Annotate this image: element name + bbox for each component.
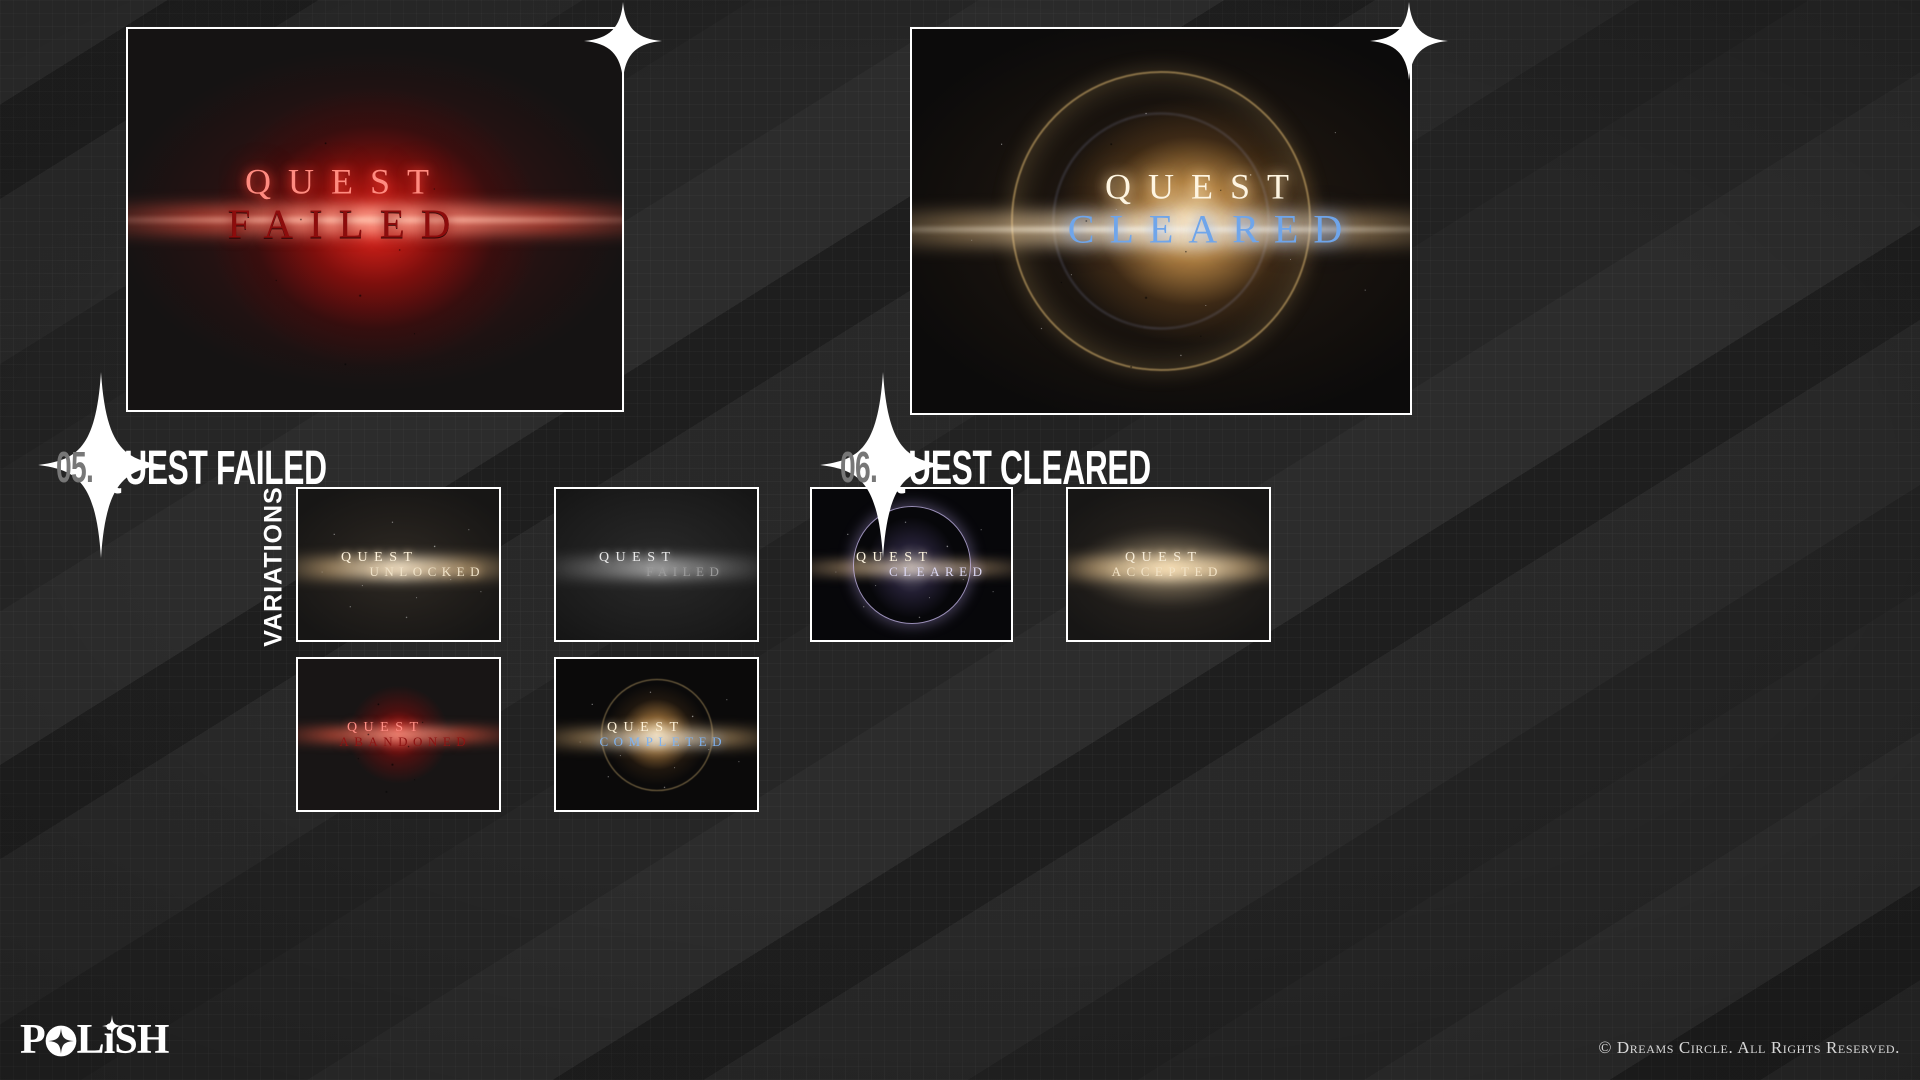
section-title-text: QUEST CLEARED <box>884 441 1151 496</box>
variation-line-bottom: ABANDONED <box>302 735 501 749</box>
variation-thumb-quest-cleared[interactable]: QUEST CLEARED <box>810 487 1013 642</box>
variation-thumb-quest-abandoned[interactable]: QUEST ABANDONED <box>296 657 501 812</box>
variation-thumb-quest-failed[interactable]: QUEST FAILED <box>554 487 759 642</box>
brand-logo-p: P <box>20 1019 45 1061</box>
variation-line-bottom: UNLOCKED <box>324 565 501 579</box>
variations-label-text: VARIATIONS <box>260 486 289 646</box>
variation-line-bottom: FAILED <box>582 565 759 579</box>
section-title-quest-failed: 05. QUEST FAILED <box>56 440 444 496</box>
section-title-text: QUEST FAILED <box>100 441 327 496</box>
variation-thumb-quest-completed[interactable]: QUEST COMPLETED <box>554 657 759 812</box>
preview-text-quest-failed: QUEST FAILED <box>128 164 622 245</box>
preview-line-bottom: FAILED <box>126 204 586 245</box>
section-number: 06. <box>840 443 877 493</box>
preview-line-top: QUEST <box>948 169 1412 205</box>
variation-text: QUEST ACCEPTED <box>1068 550 1269 578</box>
variation-text: QUEST ABANDONED <box>298 720 499 748</box>
logo-sparkle-icon <box>102 1003 122 1045</box>
variations-label: VARIATIONS <box>254 489 294 644</box>
preview-line-bottom: CLEARED <box>956 210 1412 250</box>
brand-logo-i: i <box>104 1019 115 1061</box>
variation-line-top: QUEST <box>810 550 991 565</box>
variation-line-top: QUEST <box>1066 550 1261 565</box>
logo-star-icon <box>45 1019 77 1061</box>
section-number: 05. <box>56 443 93 493</box>
variation-line-bottom: ACCEPTED <box>1066 565 1265 579</box>
variation-line-top: QUEST <box>554 550 735 565</box>
variation-text: QUEST FAILED <box>556 550 757 578</box>
variation-thumb-quest-unlocked[interactable]: QUEST UNLOCKED <box>296 487 501 642</box>
variation-text: QUEST UNLOCKED <box>298 550 499 578</box>
preview-line-top: QUEST <box>126 164 584 200</box>
variation-thumb-quest-accepted[interactable]: QUEST ACCEPTED <box>1066 487 1271 642</box>
variation-line-top: QUEST <box>296 720 483 735</box>
variation-text: QUEST CLEARED <box>812 550 1011 578</box>
variation-text: QUEST COMPLETED <box>556 720 757 748</box>
brand-logo-sh: SH <box>114 1019 168 1061</box>
preview-panel-quest-failed[interactable]: QUEST FAILED <box>126 27 624 412</box>
section-title-quest-cleared: 06. QUEST CLEARED <box>840 440 1288 496</box>
brand-logo-l: L <box>77 1019 104 1061</box>
preview-text-quest-cleared: QUEST CLEARED <box>948 169 1412 250</box>
variation-line-top: QUEST <box>296 550 477 565</box>
variation-line-bottom: CLEARED <box>836 565 1013 579</box>
preview-panel-quest-cleared[interactable]: QUEST CLEARED <box>910 27 1412 415</box>
variation-line-top: QUEST <box>554 720 743 735</box>
brand-logo: P L i SH <box>20 1018 168 1062</box>
copyright-text: © Dreams Circle. All Rights Reserved. <box>1598 1038 1900 1058</box>
variation-line-bottom: COMPLETED <box>560 735 759 749</box>
